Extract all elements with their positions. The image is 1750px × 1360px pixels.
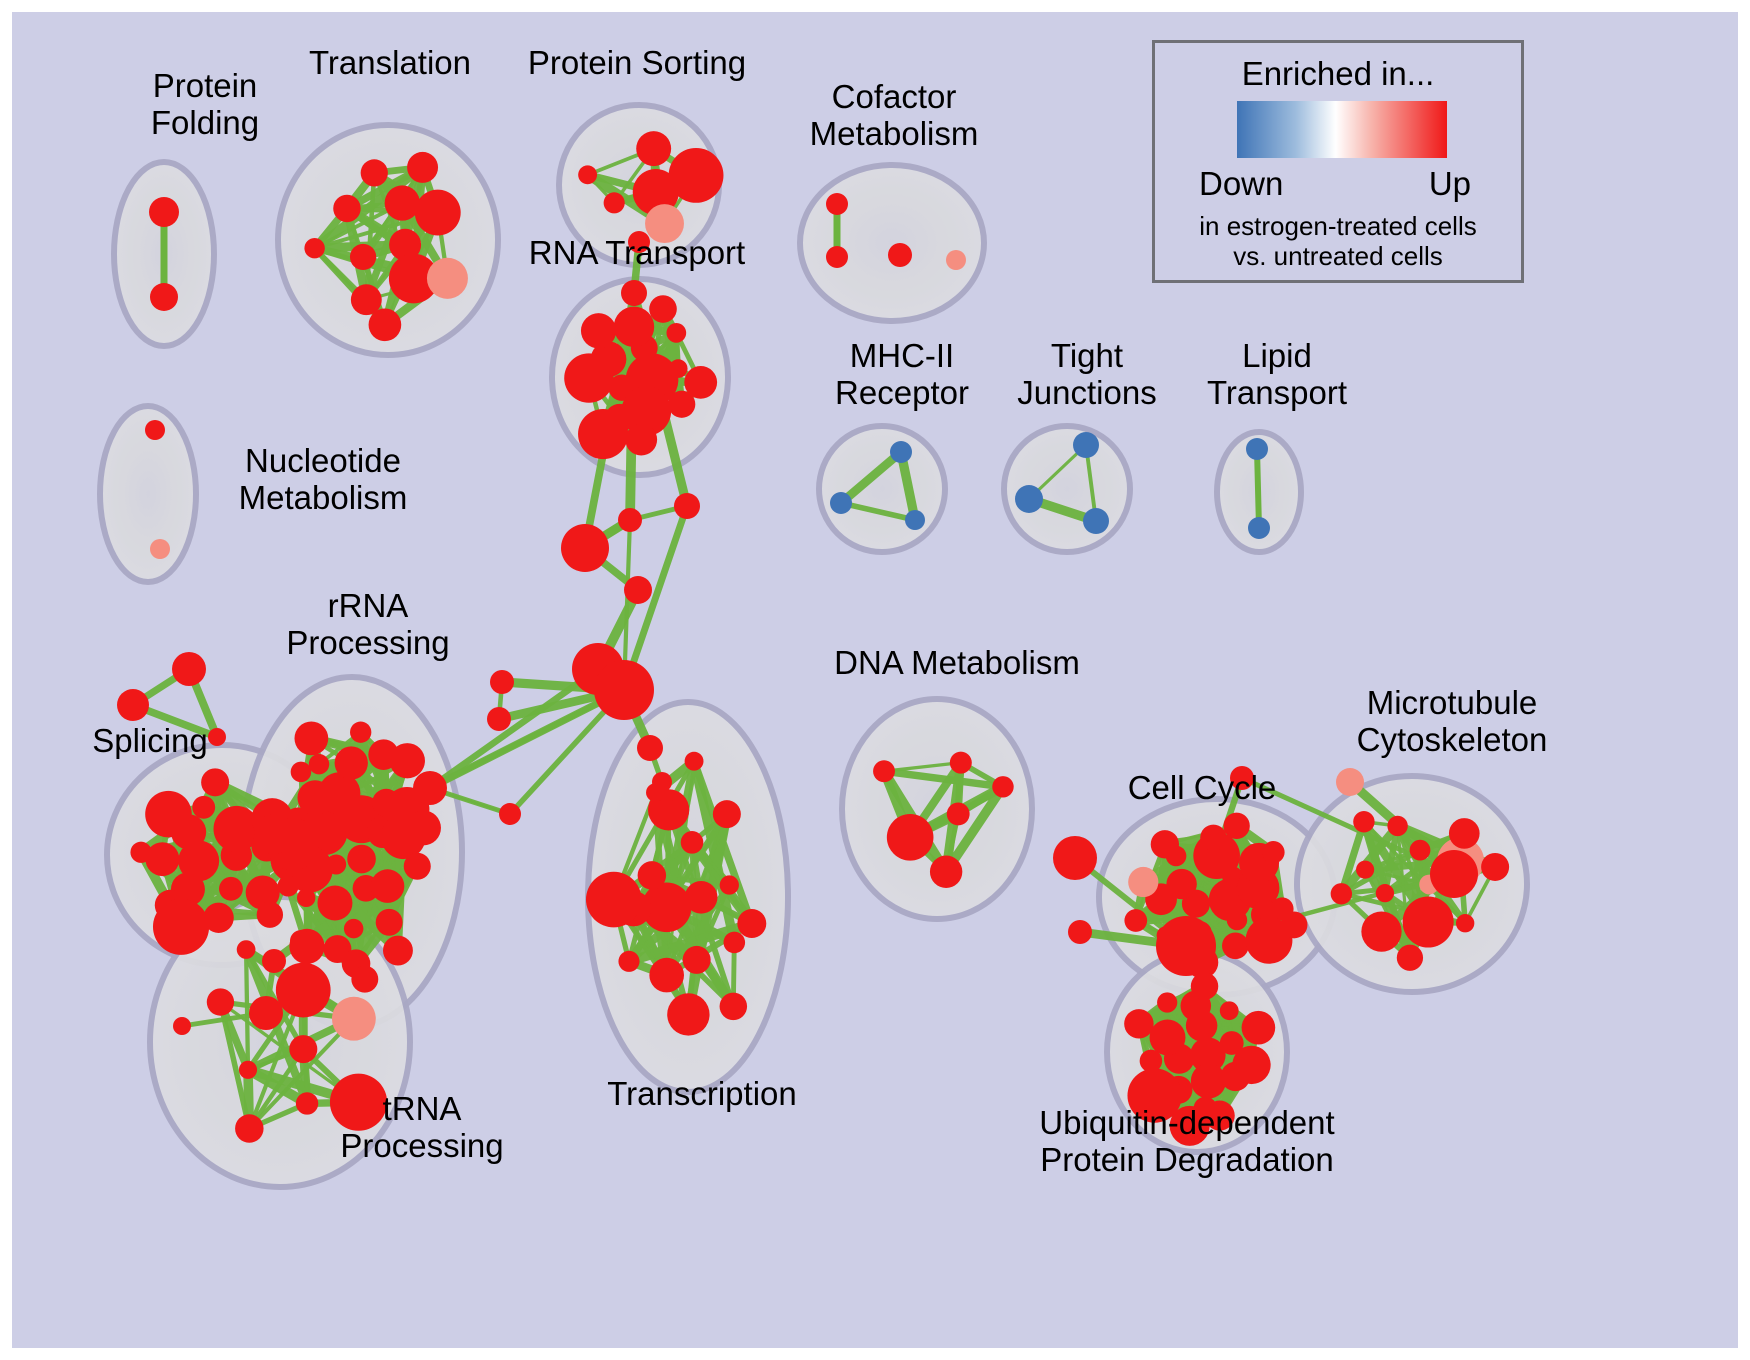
network-node — [333, 195, 360, 222]
network-node — [624, 576, 652, 604]
network-node — [350, 244, 376, 270]
legend-caption-line2: vs. untreated cells — [1233, 241, 1443, 271]
cluster-label-translation: Translation — [270, 44, 510, 81]
network-node — [117, 689, 149, 721]
network-node — [594, 660, 654, 720]
network-node — [1353, 811, 1374, 832]
network-node — [404, 853, 431, 880]
network-node — [720, 993, 747, 1020]
legend-up-label: Up — [1429, 165, 1471, 203]
network-node — [618, 508, 642, 532]
network-panel: Protein FoldingTranslationNucleotide Met… — [12, 12, 1738, 1348]
network-node — [1387, 816, 1407, 836]
network-node — [887, 814, 934, 861]
network-node — [254, 814, 294, 854]
network-node — [145, 420, 165, 440]
network-node — [1361, 911, 1401, 951]
network-node — [1222, 932, 1249, 959]
cluster-hull-mhc-ii-receptor — [819, 426, 945, 552]
network-node — [1331, 883, 1352, 904]
network-node — [490, 670, 514, 694]
cluster-hull-dna-metabolism — [842, 699, 1032, 919]
network-node — [335, 746, 368, 779]
network-node — [1068, 920, 1092, 944]
network-node — [290, 930, 312, 952]
network-node — [666, 323, 686, 343]
network-node — [291, 762, 312, 783]
network-node — [304, 238, 324, 258]
legend-down-label: Down — [1199, 165, 1283, 203]
network-node — [1083, 508, 1109, 534]
network-node — [499, 803, 521, 825]
network-node — [1376, 884, 1394, 902]
network-node — [371, 869, 405, 903]
network-node — [1157, 992, 1177, 1012]
cluster-hull-cofactor-metabolism — [800, 165, 984, 321]
network-node — [235, 1114, 263, 1142]
cluster-label-cell-cycle: Cell Cycle — [1102, 769, 1302, 806]
network-node — [683, 946, 711, 974]
network-node — [487, 707, 511, 731]
network-node — [344, 919, 363, 938]
network-node — [578, 409, 628, 459]
network-node — [578, 165, 597, 184]
network-node — [930, 856, 962, 888]
network-node — [1223, 813, 1249, 839]
cluster-label-cofactor-metabolism: Cofactor Metabolism — [769, 78, 1019, 152]
network-node — [369, 308, 402, 341]
network-node — [1248, 517, 1270, 539]
network-node — [564, 353, 613, 402]
network-node — [636, 131, 671, 166]
network-node — [276, 963, 331, 1018]
network-node — [1128, 867, 1158, 897]
cluster-label-splicing: Splicing — [60, 722, 240, 759]
network-node — [946, 250, 966, 270]
network-node — [390, 743, 425, 778]
network-node — [713, 800, 741, 828]
network-node — [239, 1061, 257, 1079]
cluster-label-nucleotide-metabolism: Nucleotide Metabolism — [198, 442, 448, 516]
legend-color-gradient — [1237, 101, 1447, 158]
network-node — [947, 803, 970, 826]
network-node — [153, 899, 209, 955]
network-node — [145, 842, 179, 876]
network-node — [637, 735, 663, 761]
network-node — [1227, 910, 1247, 930]
network-node — [1191, 1063, 1226, 1098]
network-node — [376, 909, 403, 936]
network-node — [350, 722, 371, 743]
cluster-label-lipid-transport: Lipid Transport — [1167, 337, 1387, 411]
cluster-label-tight-junctions: Tight Junctions — [977, 337, 1197, 411]
network-node — [1246, 438, 1268, 460]
network-node — [415, 190, 461, 236]
network-node — [1220, 1001, 1239, 1020]
network-node — [130, 842, 151, 863]
network-node — [826, 246, 848, 268]
network-node — [351, 966, 378, 993]
network-node — [1124, 909, 1147, 932]
network-node — [289, 1035, 317, 1063]
network-node — [309, 754, 329, 774]
network-node — [207, 988, 234, 1015]
cluster-label-dna-metabolism: DNA Metabolism — [817, 644, 1097, 681]
cluster-label-ubiquitin-protein-degradation: Ubiquitin-dependent Protein Degradation — [987, 1104, 1387, 1178]
network-node — [1156, 916, 1216, 976]
cluster-label-rna-transport: RNA Transport — [512, 234, 762, 271]
network-node — [237, 940, 256, 959]
network-node — [257, 902, 283, 928]
network-node — [826, 193, 848, 215]
network-node — [674, 493, 700, 519]
network-node — [219, 877, 243, 901]
network-edge — [1257, 449, 1259, 528]
network-node — [262, 949, 286, 973]
network-node — [669, 148, 724, 203]
network-node — [586, 872, 642, 928]
network-node — [1397, 945, 1423, 971]
network-node — [413, 771, 447, 805]
network-node — [1481, 853, 1509, 881]
network-node — [1356, 861, 1374, 879]
network-node — [992, 776, 1013, 797]
network-node — [297, 780, 332, 815]
network-node — [684, 366, 717, 399]
network-node — [830, 492, 852, 514]
cluster-label-rrna-processing: rRNA Processing — [258, 587, 478, 661]
network-edge — [430, 690, 624, 788]
network-node — [1410, 840, 1431, 861]
network-node — [581, 313, 616, 348]
network-node — [618, 951, 639, 972]
network-node — [654, 799, 680, 825]
network-node — [1232, 1046, 1270, 1084]
legend-caption: in estrogen-treated cellsvs. untreated c… — [1155, 211, 1521, 271]
network-node — [649, 958, 684, 993]
network-node — [638, 861, 666, 889]
network-node — [873, 760, 895, 782]
network-node — [888, 243, 912, 267]
network-node — [561, 524, 609, 572]
cluster-label-trna-processing: tRNA Processing — [312, 1090, 532, 1164]
network-node — [192, 796, 215, 819]
network-edge — [246, 950, 248, 1070]
network-node — [652, 772, 672, 792]
network-node — [407, 152, 438, 183]
network-node — [383, 936, 413, 966]
cluster-label-transcription: Transcription — [582, 1075, 822, 1112]
network-node — [1124, 1009, 1153, 1038]
legend-box: Enriched in... Down Up in estrogen-treat… — [1152, 40, 1524, 283]
network-node — [1053, 836, 1097, 880]
network-node — [149, 197, 179, 227]
network-node — [614, 307, 654, 347]
network-node — [621, 280, 647, 306]
network-node — [249, 996, 283, 1030]
network-node — [1430, 850, 1478, 898]
network-node — [667, 993, 709, 1035]
network-node — [1015, 485, 1043, 513]
network-node — [317, 886, 352, 921]
network-node — [1242, 1011, 1276, 1045]
network-node — [385, 185, 420, 220]
network-node — [737, 909, 766, 938]
network-node — [145, 791, 192, 838]
network-node — [332, 997, 376, 1041]
legend-title: Enriched in... — [1155, 55, 1521, 93]
network-node — [361, 159, 388, 186]
network-node — [1336, 768, 1364, 796]
network-node — [1200, 825, 1226, 851]
network-node — [201, 768, 229, 796]
network-node — [1262, 841, 1284, 863]
network-node — [720, 875, 739, 894]
network-node — [150, 283, 178, 311]
network-node — [1281, 912, 1308, 939]
network-node — [905, 510, 925, 530]
network-node — [681, 831, 704, 854]
network-node — [649, 295, 677, 323]
network-node — [1456, 914, 1474, 932]
network-node — [1403, 896, 1454, 947]
network-node — [347, 845, 376, 874]
network-node — [723, 932, 745, 954]
network-node — [669, 359, 688, 378]
network-node — [950, 752, 972, 774]
network-node — [294, 722, 328, 756]
legend-caption-line1: in estrogen-treated cells — [1199, 211, 1476, 241]
network-node — [150, 539, 170, 559]
network-node — [278, 876, 299, 897]
network-node — [1191, 972, 1218, 999]
network-node — [625, 424, 657, 456]
network-node — [1449, 818, 1480, 849]
network-node — [427, 258, 468, 299]
network-node — [1073, 432, 1099, 458]
network-node — [406, 810, 441, 845]
network-node — [297, 889, 315, 907]
figure-canvas: Protein FoldingTranslationNucleotide Met… — [0, 0, 1750, 1360]
cluster-label-microtubule-cytoskeleton: Microtubule Cytoskeleton — [1312, 684, 1592, 758]
network-node — [172, 652, 206, 686]
network-node — [173, 1017, 191, 1035]
network-node — [604, 192, 625, 213]
cluster-label-protein-sorting: Protein Sorting — [512, 44, 762, 81]
network-node — [1150, 1019, 1186, 1055]
network-node — [1151, 830, 1179, 858]
network-node — [685, 752, 704, 771]
network-node — [890, 441, 912, 463]
